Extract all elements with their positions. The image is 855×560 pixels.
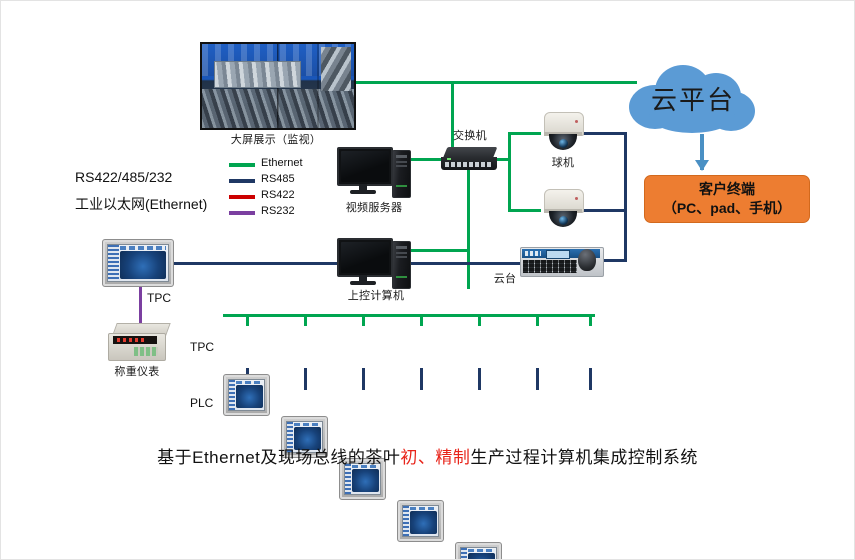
video-wall-tile-center (214, 61, 301, 88)
legend-swatch-rs485 (229, 179, 255, 183)
ptz-control-keyboard (520, 241, 602, 277)
video-server-label: 视频服务器 (327, 199, 421, 215)
host-computer-tower (392, 241, 411, 289)
legend-label-rs232: RS232 (261, 205, 295, 217)
plc-row-label: PLC (190, 396, 213, 410)
wire-ethernet-drop-3 (362, 314, 365, 326)
wire-ethernet-top-trunk (353, 81, 637, 84)
tpc-left-screen (107, 244, 169, 282)
wire-ethernet-field-backbone (223, 314, 595, 317)
legend-label-rs485: RS485 (261, 173, 295, 185)
wire-rs485-tpc-plc-2 (304, 368, 307, 390)
video-wall-tile-right (321, 47, 351, 91)
tpc-5-header (468, 549, 495, 553)
scale-display (113, 336, 157, 344)
client-terminal-box[interactable]: 客户终端 （PC、pad、手机） (644, 175, 810, 223)
host-control-computer (337, 238, 411, 288)
tpc-panel-1 (223, 374, 270, 416)
wire-ethernet-drop-1 (246, 314, 249, 326)
network-switch (441, 147, 499, 173)
video-server-stand-base (350, 190, 376, 194)
ptz-segment-display (525, 251, 541, 256)
tpc-1-screen (228, 379, 265, 411)
ptz-lcd-screen (546, 250, 570, 259)
tpc-panel-4 (397, 500, 444, 542)
cloud-to-client-arrow (695, 134, 709, 170)
ptz-keypad[interactable] (523, 260, 577, 273)
wire-ethernet-drop-6 (536, 314, 539, 326)
wire-rs485-camera-2 (579, 209, 627, 212)
wire-ethernet-drop-2 (304, 314, 307, 326)
tpc-left-label: TPC (147, 291, 171, 305)
wire-ethernet-drop-7 (589, 314, 592, 326)
legend-swatch-rs232 (229, 211, 255, 215)
weighing-indicator-label: 称重仪表 (85, 363, 189, 379)
cloud-platform-label: 云平台 (629, 63, 757, 137)
wire-rs485-ptz-riser (624, 132, 627, 262)
host-computer-monitor (337, 238, 393, 277)
scale-keypad[interactable] (134, 347, 158, 356)
wire-rs485-tpc-plc-6 (536, 368, 539, 390)
wire-ethernet-host-to-riser (407, 249, 469, 252)
wire-rs485-tpc-plc-4 (420, 368, 423, 390)
video-wall-display (200, 42, 356, 130)
camera-1-indicator-icon (575, 120, 578, 123)
tpc-panel-left (102, 239, 174, 287)
caption-highlight: 初、精制 (400, 448, 470, 467)
diagram-canvas: 大屏展示（监视） RS422/485/232 工业以太网(Ethernet) E… (0, 0, 855, 560)
video-wall-label: 大屏展示（监视） (200, 131, 352, 147)
client-terminal-line-2: （PC、pad、手机） (663, 199, 791, 218)
client-terminal-line-1: 客户终端 (699, 180, 755, 199)
legend-label-ethernet: Ethernet (261, 157, 303, 169)
side-title-line-2: 工业以太网(Ethernet) (75, 191, 207, 218)
tpc-1-header (236, 381, 263, 385)
dome-camera-label: 球机 (537, 154, 589, 170)
tpc-5-screen (460, 547, 497, 560)
dome-camera-1 (541, 112, 585, 152)
cloud-platform: 云平台 (629, 63, 757, 137)
caption-suffix: 生产过程计算机集成控制系统 (470, 448, 698, 467)
wire-ethernet-switch-to-field-bus (467, 169, 470, 289)
wire-rs232-tpc-to-scale (139, 282, 142, 325)
video-server (337, 147, 411, 197)
tpc-2-header (294, 423, 321, 427)
ptz-joystick[interactable] (578, 249, 596, 271)
switch-ports (445, 162, 493, 167)
camera-2-lens-icon (559, 216, 568, 225)
wire-rs485-tpc-plc-5 (478, 368, 481, 390)
wire-rs485-camera-1 (579, 132, 627, 135)
camera-2-indicator-icon (575, 197, 578, 200)
wire-rs485-tpc-to-host (173, 262, 341, 265)
diagram-caption: 基于Ethernet及现场总线的茶叶初、精制生产过程计算机集成控制系统 (1, 443, 854, 468)
wire-rs485-tpc-plc-3 (362, 368, 365, 390)
tpc-4-header (410, 507, 437, 511)
side-title: RS422/485/232 工业以太网(Ethernet) (75, 164, 207, 217)
tpc-panel-5 (455, 542, 502, 560)
tpc-4-screen (402, 505, 439, 537)
tpc-row-label: TPC (190, 340, 214, 354)
legend-swatch-rs422 (229, 195, 255, 199)
legend-swatch-ethernet (229, 163, 255, 167)
weighing-indicator (108, 323, 170, 361)
wire-ethernet-to-camera-2 (508, 209, 541, 212)
side-title-line-1: RS422/485/232 (75, 164, 207, 191)
wire-ethernet-to-camera-1 (508, 132, 541, 135)
video-server-monitor (337, 147, 393, 186)
ptz-label: 云台 (485, 270, 525, 286)
switch-led-icon (447, 158, 451, 160)
video-server-tower (392, 150, 411, 198)
wire-ethernet-camera-riser (508, 132, 511, 212)
tpc-left-screen-header (120, 246, 166, 250)
dome-camera-2 (541, 189, 585, 229)
legend-label-rs422: RS422 (261, 189, 295, 201)
tpc-3-header (352, 465, 379, 469)
host-computer-label: 上控计算机 (329, 287, 423, 303)
host-computer-stand-base (350, 281, 376, 285)
wire-ethernet-drop-4 (420, 314, 423, 326)
camera-1-lens-icon (559, 139, 568, 148)
arrow-head-icon (695, 160, 709, 171)
wire-rs485-tpc-plc-7 (589, 368, 592, 390)
switch-label: 交换机 (435, 127, 505, 143)
wire-ethernet-drop-5 (478, 314, 481, 326)
